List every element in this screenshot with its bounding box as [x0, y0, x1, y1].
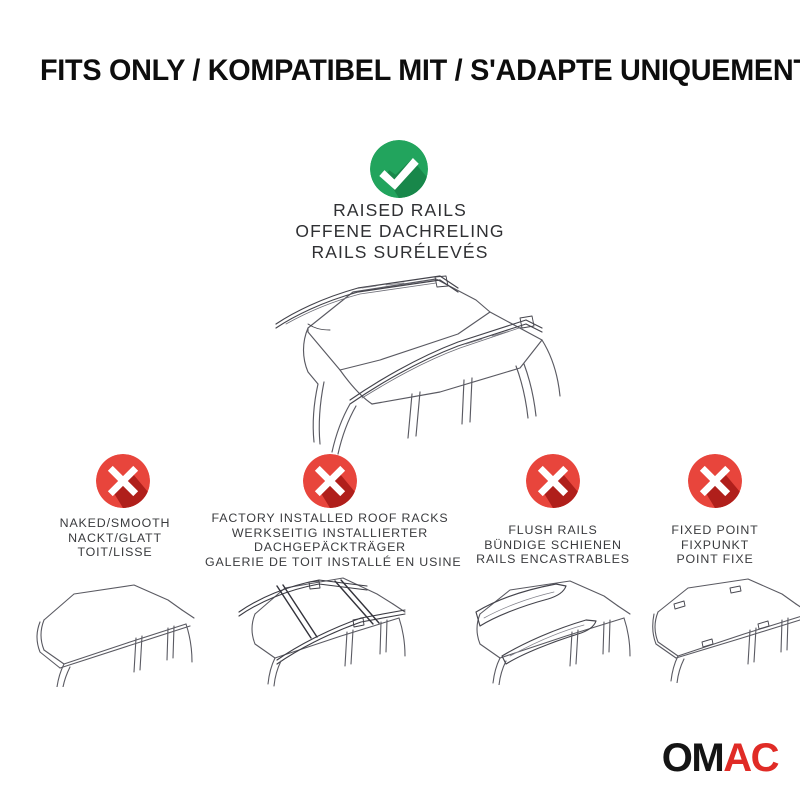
label-line-3: TOIT/LISSE — [8, 545, 222, 560]
label-line-2: WERKSEITIG INSTALLIERTER — [205, 526, 455, 541]
incompatible-label-flush-rails: FLUSH RAILS BÜNDIGE SCHIENEN RAILS ENCAS… — [452, 523, 654, 567]
car-roof-with-crossbars-illustration — [215, 562, 430, 687]
label-line-2: FIXPUNKT — [630, 538, 800, 553]
incompatible-label-naked: NAKED/SMOOTH NACKT/GLATT TOIT/LISSE — [8, 516, 222, 560]
car-roof-with-fixed-points-illustration — [622, 568, 800, 683]
incompatible-label-fixed-point: FIXED POINT FIXPUNKT POINT FIXE — [630, 523, 800, 567]
logo-accent-text: AC — [723, 736, 778, 780]
car-roof-with-flush-rails-illustration — [444, 570, 639, 685]
x-circle-icon — [303, 454, 357, 508]
label-line-1: FLUSH RAILS — [452, 523, 654, 538]
compatible-label-line-3: RAILS SURÉLEVÉS — [180, 242, 620, 263]
omac-logo: OMAC — [662, 738, 778, 778]
label-line-1: NAKED/SMOOTH — [8, 516, 222, 531]
compatible-label: RAISED RAILS OFFENE DACHRELING RAILS SUR… — [180, 200, 620, 263]
compatible-label-line-2: OFFENE DACHRELING — [180, 221, 620, 242]
x-circle-icon — [96, 454, 150, 508]
label-line-2: NACKT/GLATT — [8, 531, 222, 546]
compatible-label-line-1: RAISED RAILS — [180, 200, 620, 221]
car-roof-bare-illustration — [10, 572, 200, 687]
label-line-3: POINT FIXE — [630, 552, 800, 567]
label-line-3: RAILS ENCASTRABLES — [452, 552, 654, 567]
label-line-1: FIXED POINT — [630, 523, 800, 538]
label-line-1: FACTORY INSTALLED ROOF RACKS — [205, 511, 455, 526]
incompatible-label-factory-racks: FACTORY INSTALLED ROOF RACKS WERKSEITIG … — [205, 511, 455, 569]
label-line-3: DACHGEPÄCKTRÄGER — [205, 540, 455, 555]
page-title: FITS ONLY / KOMPATIBEL MIT / S'ADAPTE UN… — [40, 54, 750, 88]
x-circle-icon — [688, 454, 742, 508]
x-circle-icon — [526, 454, 580, 508]
logo-dark-text: OM — [662, 736, 723, 780]
car-roof-with-raised-rails-illustration — [190, 272, 620, 457]
check-circle-icon — [370, 140, 428, 198]
label-line-2: BÜNDIGE SCHIENEN — [452, 538, 654, 553]
